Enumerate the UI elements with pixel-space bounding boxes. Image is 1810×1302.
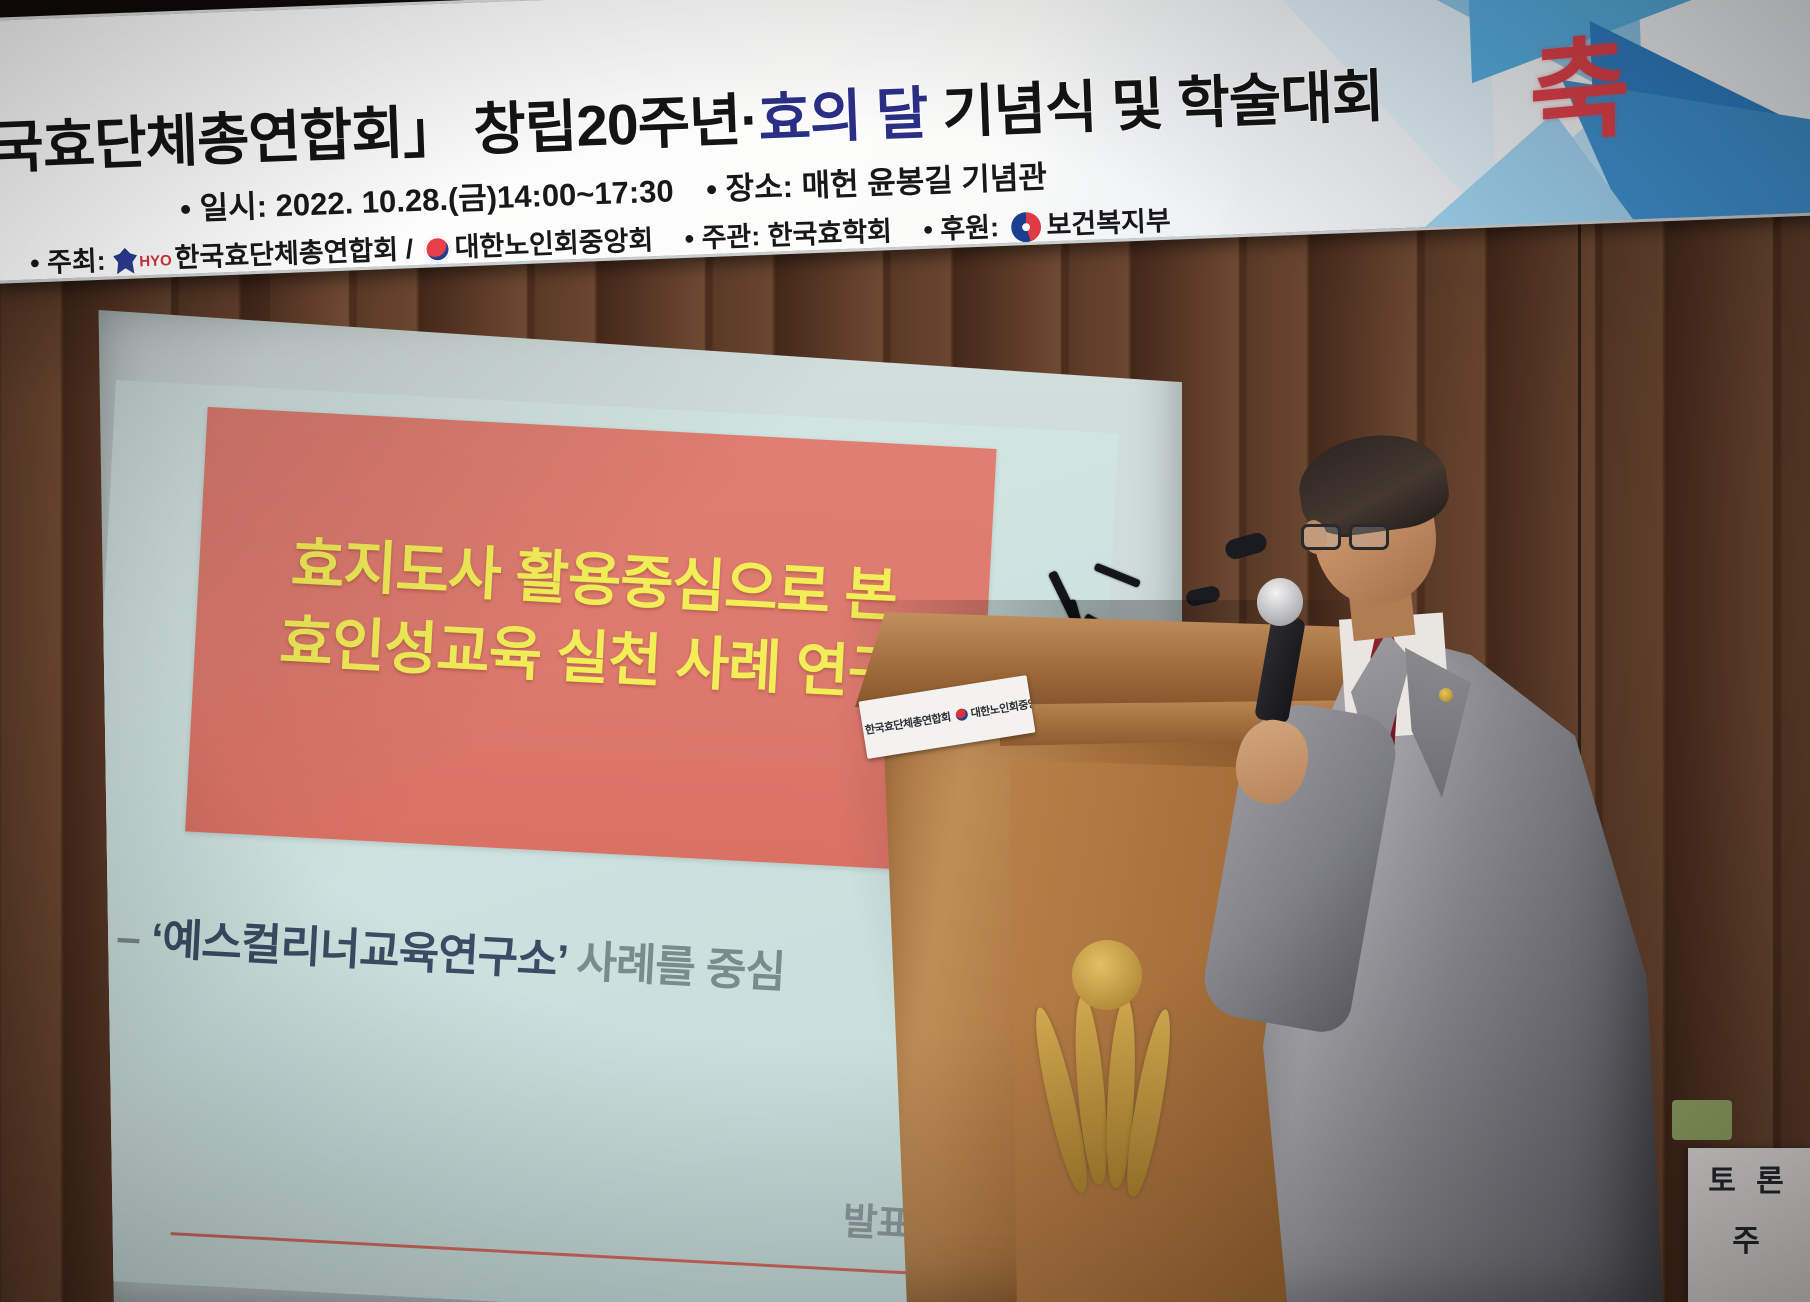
banner-sponsor-label: • 후원: — [923, 212, 1000, 245]
banner-host-separator: / — [405, 234, 414, 264]
banner-host-label: • 주최: — [30, 246, 107, 279]
banner-place-value: 매헌 윤봉길 기념관 — [801, 159, 1048, 203]
banner-host-value-b: 대한노인회중앙회 — [454, 225, 654, 262]
podium-emblem-disc — [1072, 940, 1142, 1010]
background-chair — [1672, 1100, 1732, 1140]
placard-line-1: 토 론 — [1708, 1156, 1790, 1200]
speaker-person — [1255, 420, 1675, 1302]
banner-organizer-label: • 주관: — [684, 221, 761, 254]
hyo-wordmark: HYO — [139, 252, 172, 270]
banner-title-prefix: 국효단체총연합회」 — [0, 99, 460, 180]
banner-date-label: • 일시: — [180, 189, 268, 227]
plaque-text-b: 대한노인회중앙회 — [970, 696, 1035, 720]
banner-title-highlight: 효의 달 — [757, 82, 928, 152]
conference-photo-scene: 축 국효단체총연합회」 창립20주년·효의 달 기념식 및 학술대회 • 일시:… — [0, 0, 1810, 1302]
banner-host-value-a: 한국효단체총연합회 — [174, 235, 399, 273]
government-emblem-icon — [1011, 212, 1042, 243]
korea-flag-icon — [424, 236, 451, 263]
plaque-text-a: 한국효단체총연합회 — [864, 712, 951, 737]
banner-organizer-value: 한국효학회 — [767, 216, 892, 251]
glasses-icon — [1301, 524, 1397, 550]
hyo-emblem-icon — [113, 248, 138, 275]
banner-place-label: • 장소: — [706, 169, 794, 207]
banner-date-value: 2022. 10.28.(금)14:00~17:30 — [275, 173, 674, 223]
banner-sponsor-value: 보건복지부 — [1046, 206, 1171, 241]
banner-title-main-b: 기념식 및 학술대회 — [926, 65, 1384, 146]
plaque-flag-icon — [955, 708, 969, 722]
speaker-lapel-pin — [1439, 688, 1453, 702]
banner-title-main-a: 창립20주년· — [457, 88, 759, 163]
celebration-glyph-icon: 축 — [1529, 0, 1626, 166]
placard-line-2: 주 — [1732, 1216, 1766, 1260]
discussion-placard: 토 론 주 — [1688, 1148, 1810, 1302]
